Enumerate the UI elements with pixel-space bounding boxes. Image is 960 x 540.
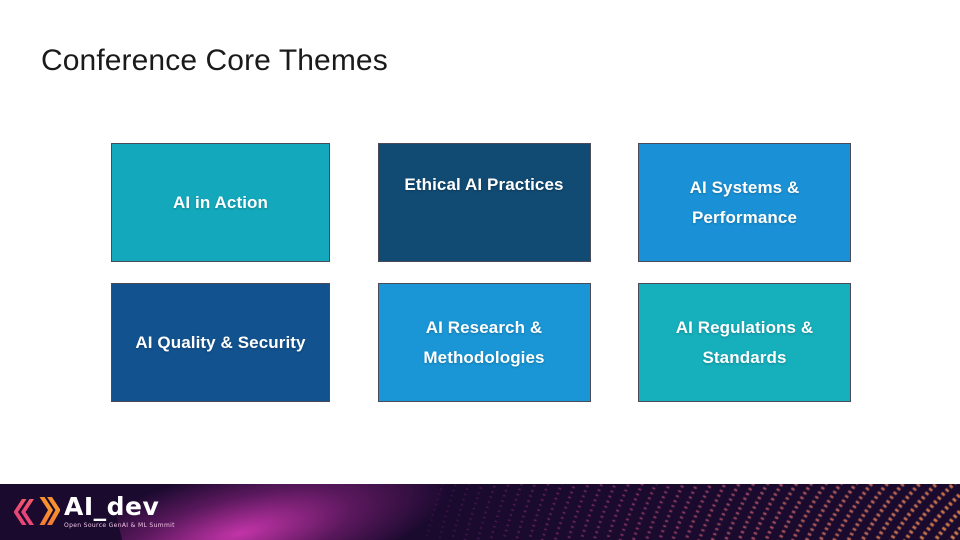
page-title: Conference Core Themes	[41, 41, 388, 81]
ai-dev-logo: AI_dev Open Source GenAI & ML Summit	[14, 490, 175, 534]
theme-card-grid: AI in Action Ethical AI Practices AI Sys…	[111, 143, 851, 402]
theme-card-label: AI Regulations & Standards	[649, 313, 840, 373]
theme-card-label: AI Systems & Performance	[649, 173, 840, 233]
theme-card-ai-research-methodologies[interactable]: AI Research & Methodologies	[378, 283, 591, 402]
logo-text-block: AI_dev Open Source GenAI & ML Summit	[64, 494, 175, 530]
theme-card-ethical-ai-practices[interactable]: Ethical AI Practices	[378, 143, 591, 262]
theme-card-ai-regulations-standards[interactable]: AI Regulations & Standards	[638, 283, 851, 402]
theme-card-ai-in-action[interactable]: AI in Action	[111, 143, 330, 262]
slide-canvas: Conference Core Themes AI in Action Ethi…	[0, 0, 960, 540]
theme-card-ai-quality-security[interactable]: AI Quality & Security	[111, 283, 330, 402]
theme-card-label: Ethical AI Practices	[404, 170, 563, 200]
chevron-logo-icon	[14, 493, 60, 531]
theme-card-label: AI Research & Methodologies	[389, 313, 580, 373]
logo-tagline: Open Source GenAI & ML Summit	[64, 521, 175, 530]
footer-banner: AI_dev Open Source GenAI & ML Summit	[0, 484, 960, 540]
theme-card-label: AI Quality & Security	[135, 328, 305, 358]
logo-wordmark: AI_dev	[64, 494, 175, 519]
theme-card-label: AI in Action	[173, 188, 268, 218]
theme-card-ai-systems-performance[interactable]: AI Systems & Performance	[638, 143, 851, 262]
